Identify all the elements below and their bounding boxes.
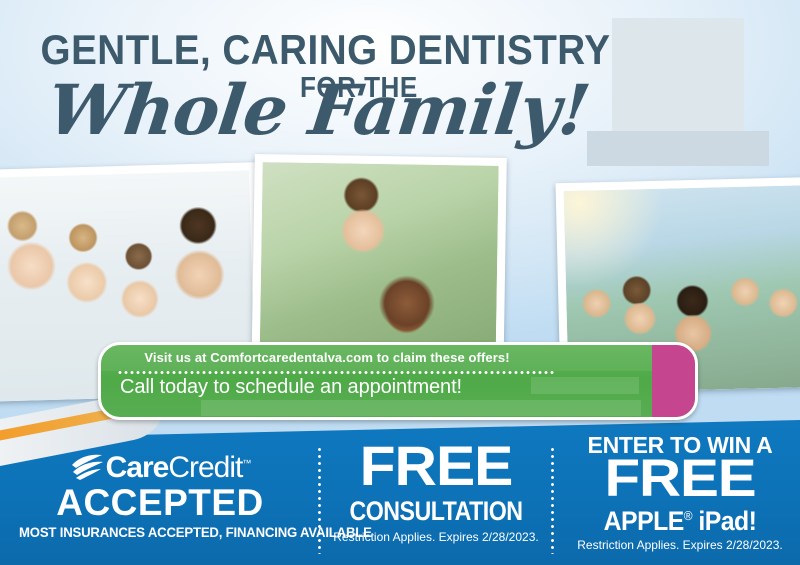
carecredit-care: Care (106, 451, 169, 484)
consultation-restriction: Restriction Applies. Expires 2/28/2023. (326, 530, 546, 544)
ipad-product-line: APPLE® iPad! (570, 506, 791, 537)
offer-ipad-giveaway: ENTER TO WIN A FREE APPLE® iPad! Restric… (560, 430, 800, 560)
carecredit-logo: CareCredit™ (10, 452, 310, 486)
carecredit-credit: Credit (168, 451, 242, 484)
website-line: Visit us at Comfortcaredentalva.com to c… (127, 350, 527, 365)
call-to-action-line: Call today to schedule an appointment! (120, 376, 462, 399)
ipad-product-name: APPLE (604, 506, 684, 536)
consultation-subhead: CONSULTATION (341, 496, 530, 527)
ipad-product-tail: iPad! (692, 506, 756, 536)
panel-placeholder-one (531, 377, 639, 394)
carecredit-subtext: MOST INSURANCES ACCEPTED, FINANCING AVAI… (19, 524, 301, 540)
registered-mark-icon: ® (684, 508, 692, 523)
postcard-canvas: GENTLE, CARING DENTISTRY FOR THE Whole F… (0, 0, 800, 565)
ipad-restriction: Restriction Applies. Expires 2/28/2023. (560, 538, 800, 552)
carecredit-swoosh-icon (70, 454, 104, 485)
headline-line-1: GENTLE, CARING DENTISTRY (41, 26, 560, 74)
ipad-headline: FREE (548, 452, 800, 505)
logo-placeholder-main (612, 18, 744, 133)
carecredit-wordmark: CareCredit™ (106, 451, 251, 485)
trademark-symbol: ™ (242, 458, 250, 468)
qr-code-icon[interactable] (652, 345, 698, 419)
contact-callout-panel: Visit us at Comfortcaredentalva.com to c… (98, 342, 698, 420)
panel-placeholder-two (201, 400, 641, 416)
headline-block: GENTLE, CARING DENTISTRY FOR THE Whole F… (0, 14, 600, 164)
consultation-headline: FREE (321, 438, 552, 494)
headline-script: Whole Family! (44, 76, 572, 145)
dotted-divider (117, 371, 554, 374)
offer-free-consultation: FREE CONSULTATION Restriction Applies. E… (326, 436, 546, 560)
carecredit-accepted-label: ACCEPTED (10, 482, 310, 524)
offer-carecredit: CareCredit™ ACCEPTED MOST INSURANCES ACC… (10, 432, 310, 560)
